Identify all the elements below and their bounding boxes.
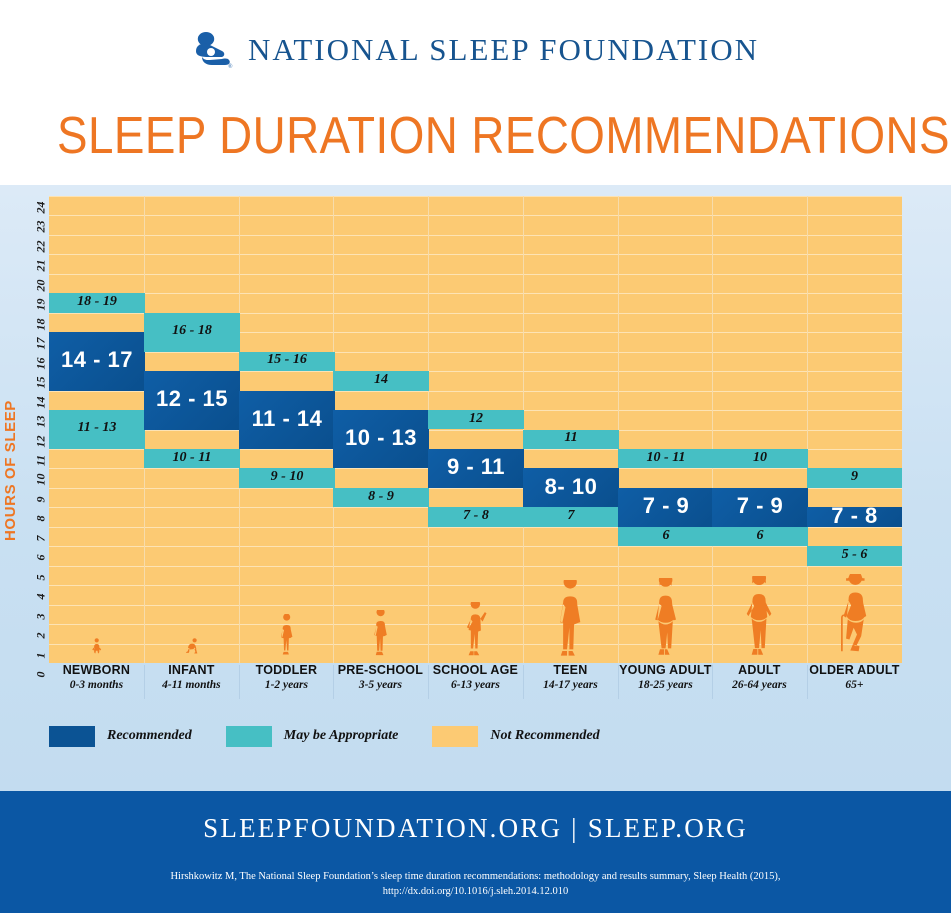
category-age-range: 18-25 years	[618, 679, 713, 691]
category-name: PRE-SCHOOL	[333, 663, 428, 677]
x-axis-divider	[144, 665, 145, 699]
y-axis-labels: HOURS OF SLEEP 0123456789101112131415161…	[0, 196, 49, 663]
footer-urls[interactable]: SLEEPFOUNDATION.ORG | SLEEP.ORG	[0, 813, 951, 844]
category-name: ADULT	[712, 663, 807, 677]
category-name: NEWBORN	[49, 663, 144, 677]
bar-may-be-appropriate-lower: 10 - 11	[144, 449, 240, 468]
age-group-silhouette	[463, 602, 488, 663]
x-axis-category-toddler: TODDLER1-2 years	[239, 663, 334, 691]
footer: SLEEPFOUNDATION.ORG | SLEEP.ORG Hirshkow…	[0, 791, 951, 913]
age-group-silhouette	[836, 574, 873, 663]
gridline	[49, 293, 902, 294]
x-axis-divider	[523, 665, 524, 699]
category-age-range: 26-64 years	[712, 679, 807, 691]
bar-may-be-appropriate-lower: 7	[523, 507, 619, 526]
bar-recommended: 12 - 15	[144, 371, 240, 429]
legend-label: Recommended	[107, 728, 192, 744]
gridline	[49, 254, 902, 255]
category-age-range: 6-13 years	[428, 679, 523, 691]
x-axis-category-older-adult: OLDER ADULT65+	[807, 663, 902, 691]
category-name: TEEN	[523, 663, 618, 677]
org-name: NATIONAL SLEEP FOUNDATION	[248, 32, 759, 68]
bar-may-be-appropriate-lower: 11 - 13	[49, 410, 145, 449]
bar-label: 6	[712, 528, 808, 544]
age-group-silhouette	[185, 628, 198, 663]
masthead: ® NATIONAL SLEEP FOUNDATION	[0, 0, 951, 100]
bar-may-be-appropriate-upper: 10	[712, 449, 808, 468]
bar-label: 14	[333, 372, 429, 388]
category-age-range: 14-17 years	[523, 679, 618, 691]
column-divider	[807, 196, 808, 663]
age-group-silhouette	[277, 614, 296, 663]
bar-label: 9	[807, 469, 902, 485]
legend-swatch-may-be-appropriate	[226, 726, 272, 747]
legend-swatch-not-recommended	[432, 726, 478, 747]
bar-may-be-appropriate-upper: 14	[333, 371, 429, 390]
category-name: INFANT	[144, 663, 239, 677]
x-axis-category-newborn: NEWBORN0-3 months	[49, 663, 144, 691]
bar-may-be-appropriate-lower: 5 - 6	[807, 546, 902, 565]
y-axis-title: HOURS OF SLEEP	[2, 400, 19, 541]
age-group-silhouette	[91, 632, 102, 663]
x-axis-category-pre-school: PRE-SCHOOL3-5 years	[333, 663, 428, 691]
gridline	[49, 352, 902, 353]
chart-plot-area: 18 - 1911 - 1314 - 1716 - 1810 - 1112 - …	[49, 196, 902, 663]
age-group-silhouette	[741, 576, 777, 663]
legend-label: Not Recommended	[490, 728, 599, 744]
school-child-waving-icon	[463, 602, 488, 658]
bar-label: 10 - 11	[144, 450, 240, 466]
baby-lying-icon	[91, 632, 102, 658]
category-age-range: 65+	[807, 679, 902, 691]
legend-item: May be Appropriate	[226, 726, 399, 747]
bar-label: 15 - 16	[239, 352, 335, 368]
preschooler-standing-icon	[370, 610, 391, 658]
bar-recommended: 7 - 9	[618, 488, 714, 527]
x-axis-divider	[807, 665, 808, 699]
bar-label: 7	[523, 508, 619, 524]
bar-may-be-appropriate-upper: 18 - 19	[49, 293, 145, 312]
sleeping-person-logo-icon: ®	[192, 30, 234, 70]
gridline	[49, 215, 902, 216]
teen-standing-icon	[553, 580, 587, 658]
bar-may-be-appropriate-upper: 9	[807, 468, 902, 487]
citation-line-2[interactable]: http://dx.doi.org/10.1016/j.sleh.2014.12…	[0, 884, 951, 899]
bar-label: 10 - 13	[333, 425, 429, 451]
bar-label: 10	[712, 450, 808, 466]
bar-label: 8 - 9	[333, 489, 429, 505]
young-adult-woman-icon	[648, 578, 683, 658]
gridline	[49, 566, 902, 567]
bar-label: 7 - 9	[618, 493, 714, 519]
x-axis-labels: NEWBORN0-3 monthsINFANT4-11 monthsTODDLE…	[49, 663, 902, 701]
x-axis-category-teen: TEEN14-17 years	[523, 663, 618, 691]
adult-woman-icon	[741, 576, 777, 658]
bar-may-be-appropriate-lower: 7 - 8	[428, 507, 524, 526]
toddler-standing-icon	[277, 614, 296, 658]
bar-may-be-appropriate-lower: 6	[712, 527, 808, 546]
bar-label: 9 - 10	[239, 469, 335, 485]
age-group-silhouette	[648, 578, 683, 663]
legend-item: Not Recommended	[432, 726, 599, 747]
x-axis-divider	[239, 665, 240, 699]
gridline	[49, 546, 902, 547]
bar-label: 11	[523, 430, 619, 446]
bar-label: 12 - 15	[144, 386, 240, 412]
bar-label: 8- 10	[523, 474, 619, 500]
bar-label: 7 - 9	[712, 493, 808, 519]
x-axis-divider	[333, 665, 334, 699]
bar-may-be-appropriate-lower: 6	[618, 527, 714, 546]
bar-may-be-appropriate-upper: 15 - 16	[239, 352, 335, 371]
footer-citation: Hirshkowitz M, The National Sleep Founda…	[0, 869, 951, 899]
bar-label: 10 - 11	[618, 450, 714, 466]
bar-label: 7 - 8	[807, 503, 902, 529]
chart-panel: HOURS OF SLEEP 0123456789101112131415161…	[0, 185, 951, 791]
bar-recommended: 10 - 13	[333, 410, 429, 468]
bar-label: 11 - 14	[239, 406, 335, 432]
bar-may-be-appropriate-lower: 8 - 9	[333, 488, 429, 507]
baby-crawling-icon	[185, 628, 198, 658]
bar-recommended: 11 - 14	[239, 391, 335, 449]
svg-text:®: ®	[228, 63, 233, 70]
bar-label: 11 - 13	[49, 420, 145, 436]
logo: ® NATIONAL SLEEP FOUNDATION	[192, 30, 759, 70]
age-group-silhouette	[553, 580, 587, 663]
gridline	[49, 430, 902, 431]
x-axis-category-infant: INFANT4-11 months	[144, 663, 239, 691]
category-age-range: 0-3 months	[49, 679, 144, 691]
bar-may-be-appropriate-lower: 9 - 10	[239, 468, 335, 487]
x-axis-category-adult: ADULT26-64 years	[712, 663, 807, 691]
citation-line-1: Hirshkowitz M, The National Sleep Founda…	[0, 869, 951, 884]
legend: RecommendedMay be AppropriateNot Recomme…	[49, 725, 634, 747]
category-name: OLDER ADULT	[807, 663, 902, 677]
age-group-silhouette	[370, 610, 391, 663]
bar-label: 5 - 6	[807, 547, 902, 563]
x-axis-category-young-adult: YOUNG ADULT18-25 years	[618, 663, 713, 691]
infographic-page: ® NATIONAL SLEEP FOUNDATION SLEEP DURATI…	[0, 0, 951, 913]
bar-label: 14 - 17	[49, 347, 145, 373]
legend-label: May be Appropriate	[284, 728, 399, 744]
bar-may-be-appropriate-upper: 16 - 18	[144, 313, 240, 352]
gridline	[49, 196, 902, 197]
bar-may-be-appropriate-upper: 11	[523, 430, 619, 449]
bar-label: 7 - 8	[428, 508, 524, 524]
x-axis-divider	[712, 665, 713, 699]
gridline	[49, 274, 902, 275]
bar-recommended: 8- 10	[523, 468, 619, 507]
bar-recommended: 7 - 9	[712, 488, 808, 527]
x-axis-divider	[618, 665, 619, 699]
gridline	[49, 235, 902, 236]
category-name: TODDLER	[239, 663, 334, 677]
category-age-range: 4-11 months	[144, 679, 239, 691]
page-title: SLEEP DURATION RECOMMENDATIONS	[57, 108, 894, 164]
category-name: YOUNG ADULT	[618, 663, 713, 677]
bar-recommended: 7 - 8	[807, 507, 902, 526]
category-name: SCHOOL AGE	[428, 663, 523, 677]
bar-may-be-appropriate-upper: 12	[428, 410, 524, 429]
older-adult-cane-icon	[836, 574, 873, 658]
x-axis-category-school-age: SCHOOL AGE6-13 years	[428, 663, 523, 691]
category-age-range: 1-2 years	[239, 679, 334, 691]
bar-label: 16 - 18	[144, 323, 240, 339]
legend-swatch-recommended	[49, 726, 95, 747]
bar-recommended: 9 - 11	[428, 449, 524, 488]
bar-label: 9 - 11	[428, 454, 524, 480]
bar-recommended: 14 - 17	[49, 332, 145, 390]
x-axis-divider	[428, 665, 429, 699]
y-axis-tick: 24	[34, 196, 49, 220]
column-divider	[712, 196, 713, 663]
bar-label: 6	[618, 528, 714, 544]
legend-item: Recommended	[49, 726, 192, 747]
bar-label: 18 - 19	[49, 294, 145, 310]
category-age-range: 3-5 years	[333, 679, 428, 691]
bar-label: 12	[428, 411, 524, 427]
bar-may-be-appropriate-upper: 10 - 11	[618, 449, 714, 468]
